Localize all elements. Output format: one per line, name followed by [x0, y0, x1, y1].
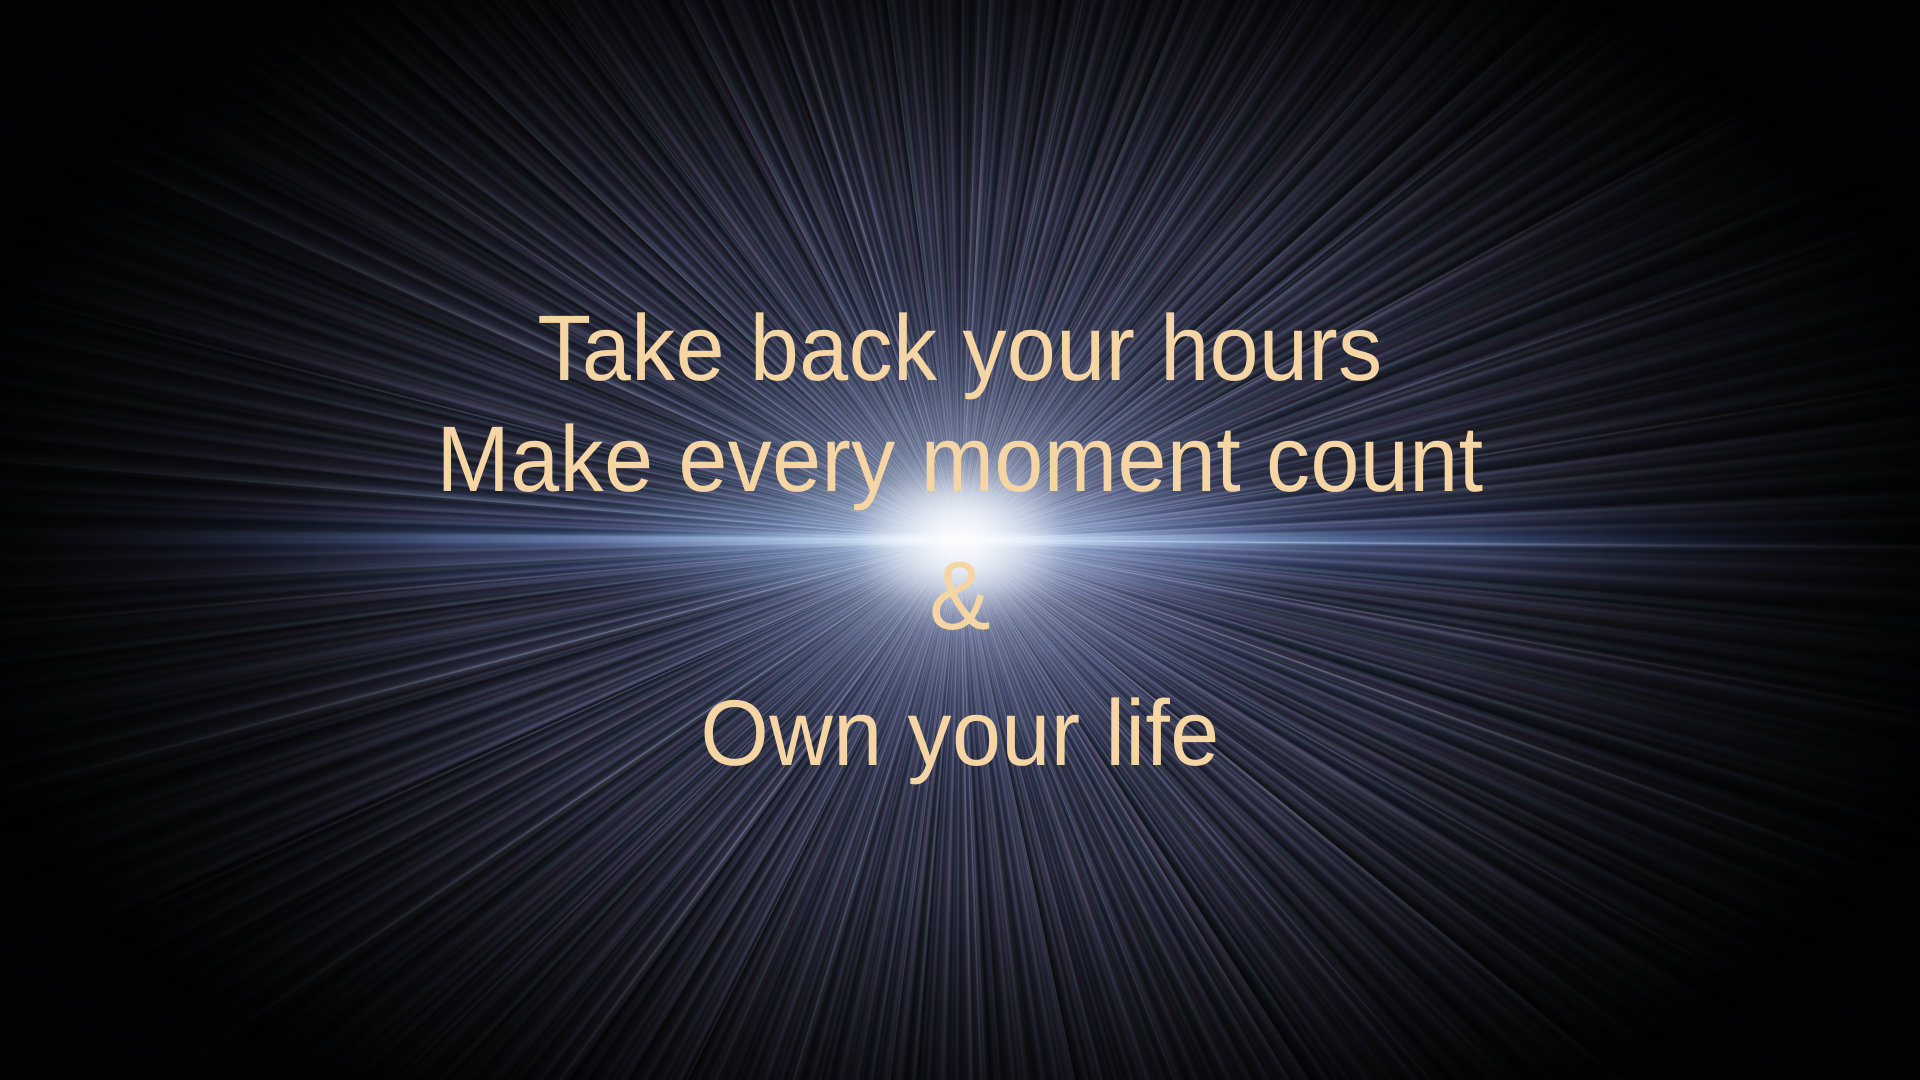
quote-line-4: Own your life — [700, 677, 1219, 787]
quote-line-2: Make every moment count — [437, 404, 1484, 514]
quote-line-ampersand: & — [929, 519, 991, 675]
quote-line-1: Take back your hours — [537, 293, 1382, 403]
quote-text-block: Take back your hours Make every moment c… — [0, 0, 1920, 1080]
quote-slide: Take back your hours Make every moment c… — [0, 0, 1920, 1080]
